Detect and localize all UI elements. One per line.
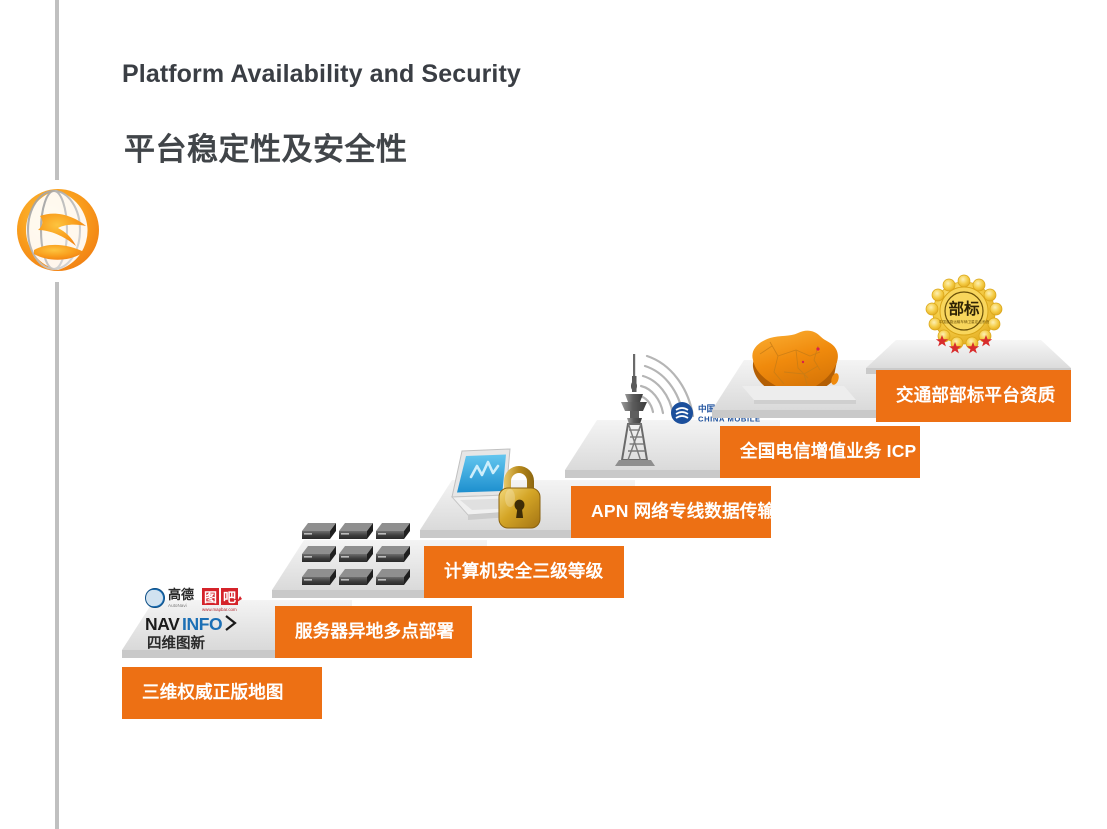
globe-hand-logo — [10, 180, 106, 280]
step-label-6[interactable]: 交通部部标平台资质 — [876, 370, 1071, 422]
svg-text:吧: 吧 — [223, 591, 236, 606]
left-rule-bottom — [55, 282, 59, 829]
gold-certification-seal-icon: 部标 中国道路运输车辆卫星定位系统 — [921, 273, 1007, 359]
step-label-3[interactable]: 计算机安全三级等级 — [424, 546, 624, 598]
svg-text:中国道路运输车辆卫星定位系统: 中国道路运输车辆卫星定位系统 — [939, 319, 990, 324]
laptop-with-padlock-icon — [440, 447, 565, 533]
page-title-english: Platform Availability and Security — [122, 60, 521, 89]
svg-text:www.mapbar.com: www.mapbar.com — [202, 607, 237, 612]
slide-canvas: Platform Availability and Security 平台稳定性… — [0, 0, 1107, 829]
step-label-2[interactable]: 服务器异地多点部署 — [275, 606, 472, 658]
china-map-icon — [740, 316, 865, 408]
svg-text:部标: 部标 — [948, 299, 980, 318]
server-rack-grid-icon — [300, 515, 420, 593]
step-label-4[interactable]: APN 网络专线数据传输 — [571, 486, 771, 538]
svg-text:AutoNavi: AutoNavi — [168, 603, 187, 608]
left-rule-top — [55, 0, 59, 180]
svg-text:NAV: NAV — [145, 614, 180, 634]
svg-text:INFO: INFO — [182, 614, 222, 634]
step-label-1[interactable]: 三维权威正版地图 — [122, 667, 322, 719]
svg-text:图: 图 — [204, 591, 217, 606]
map-partner-logos-icon: 高德 AutoNavi 图 吧 www.mapbar.com NAV INFO … — [144, 586, 264, 648]
svg-text:四维图新: 四维图新 — [147, 634, 205, 652]
svg-text:高德: 高德 — [168, 587, 194, 603]
step-label-5[interactable]: 全国电信增值业务 ICP — [720, 426, 920, 478]
page-title-chinese: 平台稳定性及安全性 — [124, 124, 408, 169]
